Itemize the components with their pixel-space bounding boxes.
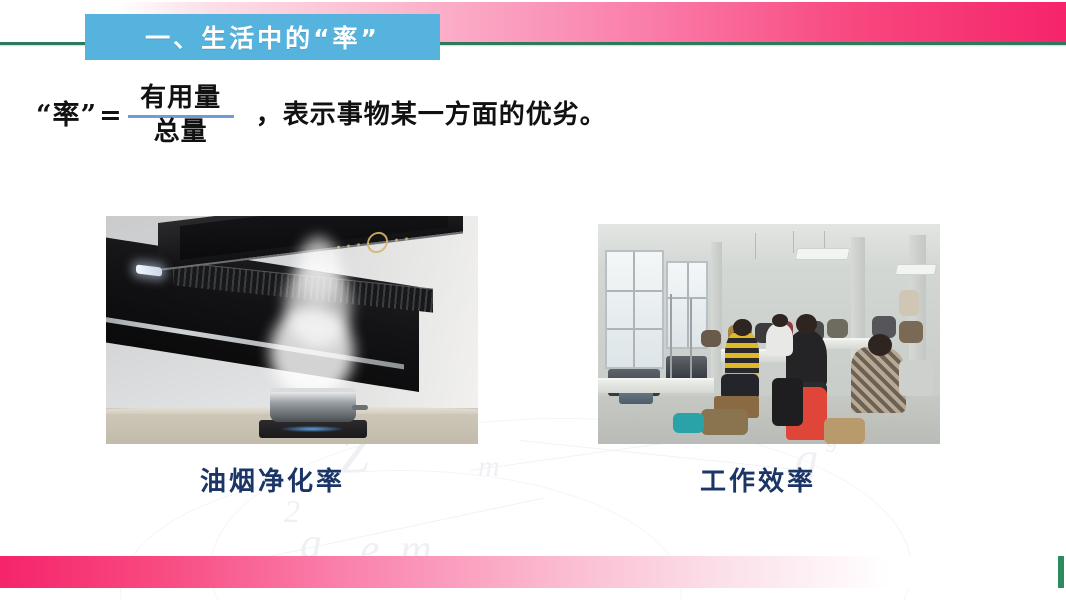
control-dot-icon [347,245,350,248]
control-dot-icon [357,244,360,247]
black-jacket [772,378,803,426]
worker-head [868,334,892,356]
worker-striped-sweater [725,330,759,378]
control-dot-icon [337,246,340,249]
formula-equals-sign: = [99,100,122,131]
fabric-pile [701,330,722,348]
bottom-gradient-bar [0,556,1058,588]
plastic-bin [673,413,704,433]
pot-handle [352,405,368,410]
figure-caption-range-hood: 油烟净化率 [200,461,345,498]
fabric-pile [899,321,923,343]
machine-stand [670,294,672,386]
gas-flame [281,426,343,432]
figure-caption-garment-factory: 工作效率 [700,461,816,498]
worker-white-shirt [766,323,793,356]
hanging-goods [899,290,920,316]
watermark-symbol: m [478,452,500,482]
fraction-denominator: 总量 [151,119,211,147]
definition-formula: “率” = 有用量 总量 ，表示事物某一方面的优劣。 [36,82,936,148]
figure-image-garment-factory [598,224,940,444]
slide-canvas: Z m g 2 a x e m 2 g 一、生活中的“率” “率” = 有用量 … [0,0,1066,600]
sewing-machine [666,356,707,380]
formula-fraction: 有用量 总量 [128,85,234,146]
workshop-window [605,250,664,368]
watermark-line [250,498,544,561]
section-title-text: 一、生活中的“率” [145,19,380,55]
worker-silhouette [827,319,848,339]
worker-patterned-top [851,347,906,413]
ceiling-cord [755,233,756,259]
paper-bag [824,418,865,444]
work-surface [899,360,933,395]
steam-plume [303,236,333,276]
formula-lead: “率” [36,102,97,129]
machine-stand [690,299,692,387]
worker-head [796,314,817,334]
formula-tail-text: ，表示事物某一方面的优劣。 [256,102,607,128]
window-mullion [687,263,689,347]
figure-image-range-hood [106,216,478,444]
fluorescent-lamp [795,248,851,260]
control-dot-icon [395,239,398,242]
cardboard-box [701,409,749,435]
ceiling-cord [793,231,794,253]
worker-head [733,319,752,337]
watermark-symbol: 2 [284,495,300,527]
fluorescent-lamp [894,264,936,275]
section-title-chip: 一、生活中的“率” [85,14,440,60]
control-dot-icon [405,238,408,241]
window-mullion [633,252,635,366]
bottom-green-accent [1058,556,1064,588]
cooking-pot [270,388,356,422]
fraction-numerator: 有用量 [137,85,224,113]
work-table [598,378,714,393]
